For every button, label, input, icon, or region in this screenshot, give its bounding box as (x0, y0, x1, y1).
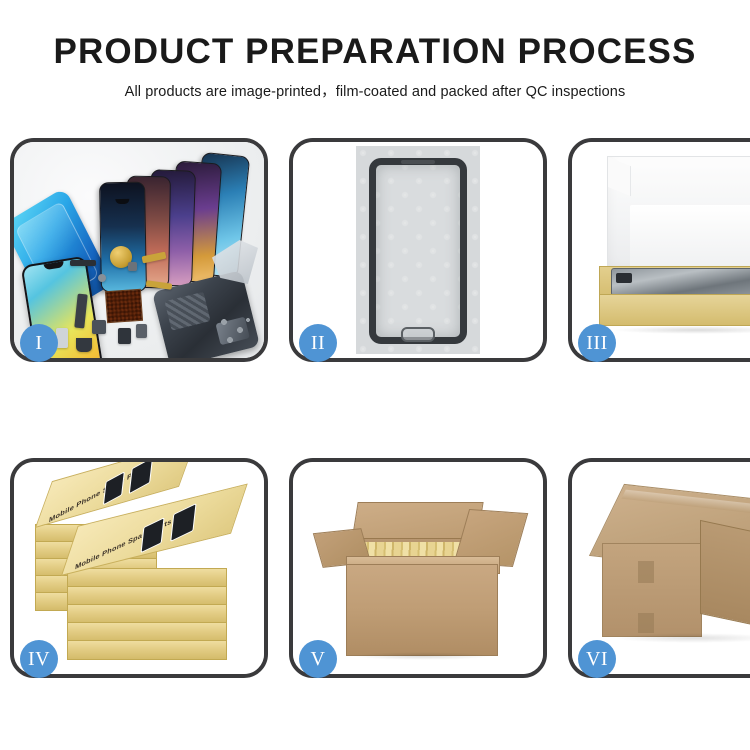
packed-product-icon (611, 268, 750, 296)
part-icon (136, 324, 147, 338)
bubble-wrapped-screen-photo (356, 146, 480, 354)
step-panel-1: I (10, 138, 268, 362)
open-carton-photo (312, 480, 524, 664)
box-side (67, 640, 227, 660)
part-icon (92, 320, 106, 334)
step-badge-4: IV (20, 640, 58, 678)
box-screen-image (129, 462, 153, 495)
steps-grid: I II (10, 138, 740, 678)
phone-screen-icon (99, 182, 147, 293)
part-icon (118, 328, 131, 344)
carton-tape-tab (638, 613, 654, 633)
header: PRODUCT PREPARATION PROCESS All products… (0, 30, 750, 103)
carton-tape-tab (638, 561, 654, 583)
kraft-box-front-icon (599, 294, 750, 326)
inner-box-photo (597, 156, 750, 344)
step-panel-4: Mobile Phone Spare Parts Mobile Phone Sp… (10, 458, 268, 678)
step-badge-5: V (299, 640, 337, 678)
step-panel-3: III (568, 138, 750, 362)
step-image-5 (293, 462, 543, 674)
step-image-1 (14, 142, 264, 358)
page-subtitle: All products are image-printed，film-coat… (0, 81, 750, 103)
drop-shadow (352, 652, 492, 660)
sealed-carton-photo (594, 487, 750, 657)
box-side (67, 586, 227, 606)
screen-glass-icon (369, 158, 467, 344)
foam-pad-icon (630, 205, 750, 267)
part-icon (76, 338, 92, 352)
step-badge-2: II (299, 324, 337, 362)
step-image-2 (293, 142, 543, 358)
box-side (67, 604, 227, 624)
step-badge-6: VI (578, 640, 616, 678)
product-preparation-infographic: PRODUCT PREPARATION PROCESS All products… (0, 0, 750, 750)
box-screen-image (170, 503, 196, 542)
carton-front-wall (346, 564, 498, 656)
step-panel-2: II (289, 138, 547, 362)
step-panel-5: V (289, 458, 547, 678)
screws-icon (216, 316, 256, 346)
part-icon (128, 262, 137, 271)
part-icon (98, 274, 106, 282)
chip-array-icon (105, 289, 143, 323)
foam-lid-icon (607, 156, 750, 276)
step-image-4: Mobile Phone Spare Parts Mobile Phone Sp… (14, 462, 264, 674)
box-side (67, 622, 227, 642)
step-badge-3: III (578, 324, 616, 362)
drop-shadow (614, 633, 750, 643)
box-side (67, 568, 227, 588)
step-panel-6: VI (568, 458, 750, 678)
page-title: PRODUCT PREPARATION PROCESS (0, 30, 750, 74)
part-icon (70, 260, 96, 266)
drop-shadow (613, 326, 750, 334)
step-badge-1: I (20, 324, 58, 362)
box-screen-image (103, 471, 125, 505)
carton-right-face (700, 520, 750, 632)
box-screen-image (141, 517, 165, 553)
stacked-boxes-photo: Mobile Phone Spare Parts Mobile Phone Sp… (31, 472, 247, 672)
